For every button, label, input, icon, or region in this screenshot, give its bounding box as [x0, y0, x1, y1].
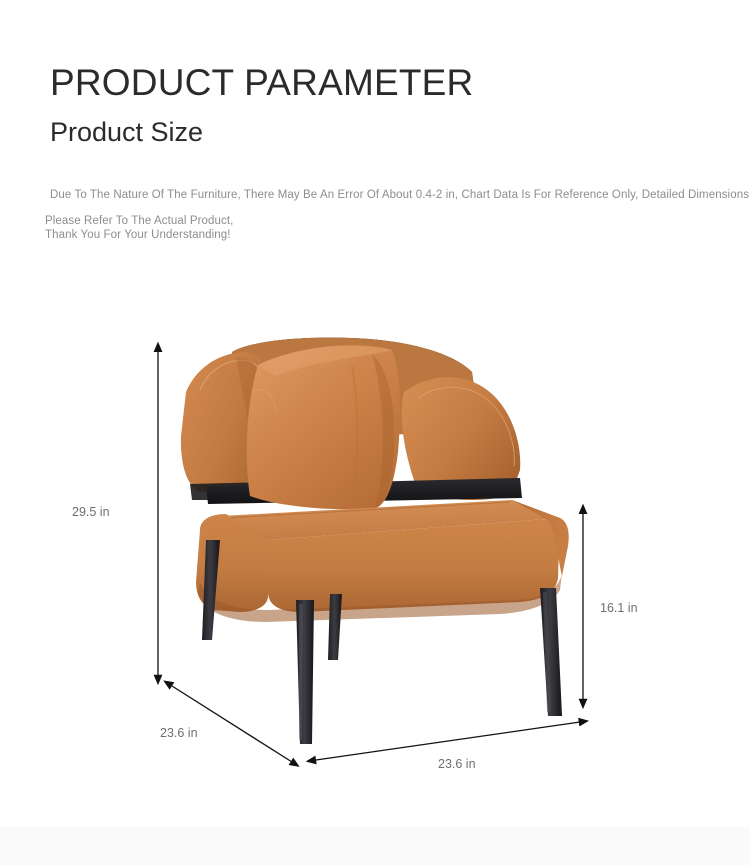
label-overall-height: 29.5 in — [72, 505, 110, 519]
disclaimer-block: Please Refer To The Actual Product, Than… — [45, 214, 233, 242]
product-parameter-page: PRODUCT PARAMETER Product Size Due To Th… — [0, 0, 750, 865]
seat-top-face — [222, 500, 560, 540]
disclaimer-line-3: Thank You For Your Understanding! — [45, 228, 233, 242]
arm-right-undershadow — [408, 478, 520, 500]
label-depth: 23.6 in — [160, 726, 198, 740]
chair-leg-front-left — [296, 600, 314, 744]
chair-back-panel — [232, 338, 480, 438]
arm-right-stitching — [418, 387, 514, 466]
page-subtitle: Product Size — [50, 117, 203, 148]
seat-left-face — [196, 514, 268, 612]
leg-front-left-highlight — [299, 604, 303, 740]
disclaimer-line-primary: Due To The Nature Of The Furniture, Ther… — [50, 189, 749, 201]
chair-leg-front-right — [540, 588, 562, 716]
leg-front-right-highlight — [543, 592, 551, 712]
seat-bottom-shadow — [198, 572, 562, 622]
label-width: 23.6 in — [438, 757, 476, 771]
pillow-right-shade — [372, 354, 394, 509]
dimension-arrows — [158, 352, 583, 762]
pillow-left-highlight — [252, 390, 276, 410]
arm-left-undershadow — [190, 482, 268, 500]
seat-right-corner — [512, 500, 569, 576]
page-title: PRODUCT PARAMETER — [50, 62, 473, 104]
pillow-fold-crease — [352, 366, 357, 500]
disclaimer-line-2: Please Refer To The Actual Product, — [45, 214, 233, 228]
arm-left-stitching — [200, 360, 270, 483]
bottom-band — [0, 827, 750, 865]
chair-pillow — [247, 345, 400, 509]
chair-base-bar — [206, 478, 522, 504]
chair-leg-back-right — [328, 594, 342, 660]
pillow-top-highlight — [258, 346, 392, 376]
seat-front-face — [268, 518, 560, 612]
arrow-depth — [172, 686, 292, 762]
chair-arm-right — [402, 377, 521, 500]
arm-left-inner-shade — [236, 358, 270, 484]
chair-arm-left — [181, 352, 276, 492]
label-seat-height: 16.1 in — [600, 601, 638, 615]
chair-leg-back-left — [202, 540, 220, 640]
chair-illustration — [181, 338, 569, 744]
arrow-width — [316, 722, 580, 760]
seat-top-seam — [224, 502, 510, 518]
